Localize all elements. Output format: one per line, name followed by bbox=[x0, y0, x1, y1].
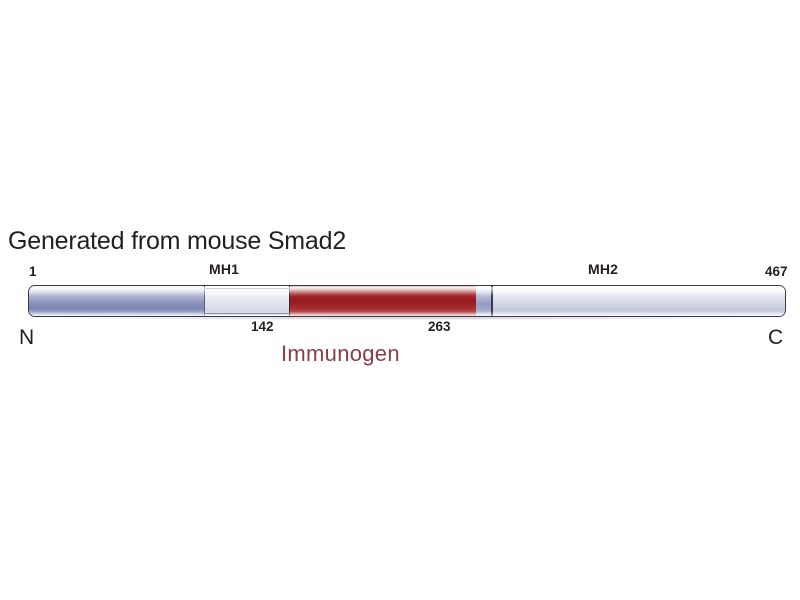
segment-mh2-domain bbox=[492, 286, 785, 316]
figure-title: Generated from mouse Smad2 bbox=[8, 227, 346, 256]
segment-mh1-domain bbox=[204, 286, 289, 316]
protein-domain-figure: Generated from mouse Smad2 1 MH1 MH2 467… bbox=[0, 0, 800, 600]
segment-n-terminal bbox=[29, 286, 204, 316]
protein-bar bbox=[28, 285, 786, 317]
domain-label-mh1: MH1 bbox=[209, 261, 239, 277]
residue-end-label: 467 bbox=[765, 264, 788, 279]
protein-bar-body bbox=[28, 285, 786, 317]
immunogen-end-label: 263 bbox=[428, 319, 451, 334]
segment-immunogen-region bbox=[289, 286, 476, 316]
immunogen-label: Immunogen bbox=[281, 341, 400, 367]
n-terminus-label: N bbox=[19, 326, 34, 350]
immunogen-start-label: 142 bbox=[251, 319, 274, 334]
segment-linker bbox=[476, 286, 491, 316]
c-terminus-label: C bbox=[768, 326, 783, 350]
residue-start-label: 1 bbox=[29, 264, 37, 279]
boundary-divider-263 bbox=[491, 286, 493, 316]
domain-label-mh2: MH2 bbox=[588, 261, 618, 277]
